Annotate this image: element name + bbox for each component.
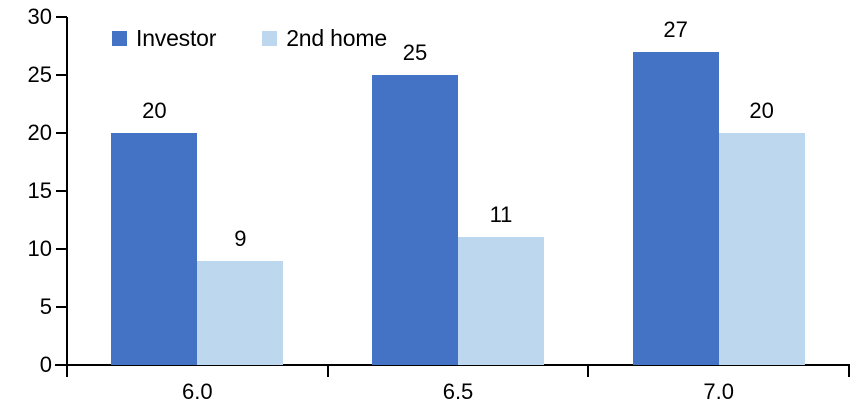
bar-value-label: 20 [142,100,166,122]
bar-2nd-home-7.0 [719,133,805,365]
chart-legend: Investor 2nd home [112,27,387,50]
y-tick-mark [56,16,67,18]
legend-swatch-2nd-home [262,31,277,46]
x-category-label: 6.0 [182,380,213,404]
bar-chart: Investor 2nd home 051015202530 6.06.57.0… [0,0,852,410]
legend-label-investor: Investor [136,27,216,50]
x-category-label: 6.5 [443,380,474,404]
x-tick-mark [66,366,68,377]
y-tick-mark [56,74,67,76]
bar-investor-6.5 [372,75,458,365]
x-tick-mark [587,366,589,377]
legend-swatch-investor [112,31,127,46]
legend-item-investor[interactable]: Investor [112,27,216,50]
legend-item-2nd-home[interactable]: 2nd home [262,27,387,50]
y-tick-label: 10 [6,238,52,260]
bar-value-label: 25 [403,42,427,64]
bar-value-label: 27 [663,19,687,41]
bar-value-label: 9 [234,228,246,250]
plot-area: 20925112720 [0,0,852,410]
y-tick-mark [56,190,67,192]
y-tick-mark [56,306,67,308]
y-tick-label: 25 [6,64,52,86]
y-tick-label: 5 [6,296,52,318]
x-axis-line [55,364,850,366]
y-tick-mark [56,248,67,250]
legend-label-2nd-home: 2nd home [286,27,387,50]
bar-2nd-home-6.5 [458,237,544,365]
x-tick-mark [848,366,850,377]
y-tick-mark [56,132,67,134]
bar-investor-6.0 [111,133,197,365]
y-tick-label: 15 [6,180,52,202]
bar-value-label: 11 [490,204,513,226]
x-category-label: 7.0 [703,380,734,404]
bar-2nd-home-6.0 [197,261,283,365]
bar-investor-7.0 [633,52,719,365]
x-tick-mark [327,366,329,377]
y-tick-label: 30 [6,6,52,28]
bar-value-label: 20 [749,100,773,122]
y-tick-label: 20 [6,122,52,144]
y-tick-label: 0 [6,354,52,376]
